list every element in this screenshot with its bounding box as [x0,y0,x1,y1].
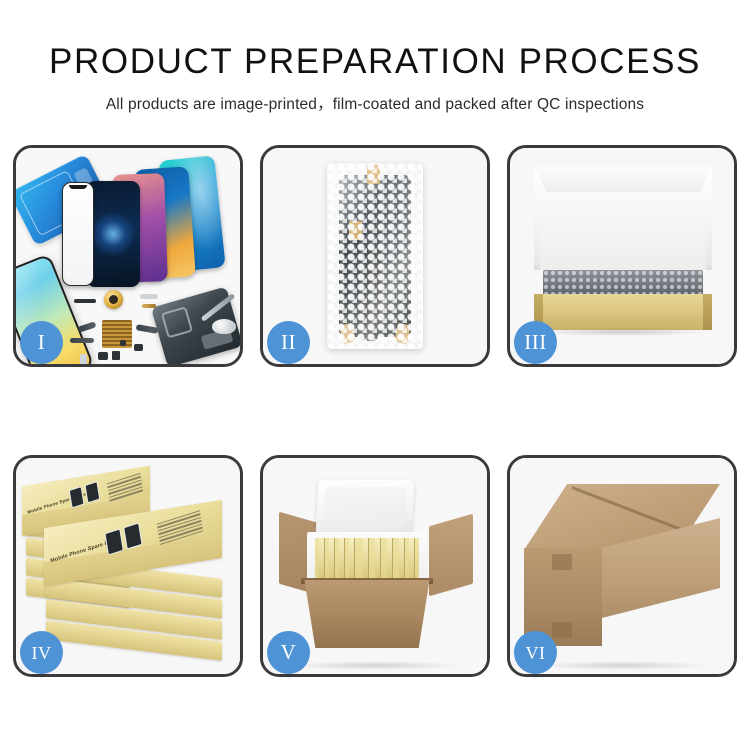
process-step-grid: I II [13,145,737,677]
plastic-sheen [327,163,423,349]
process-step-panel-1: I [13,145,243,367]
carton-tape-icon [552,622,572,638]
process-step-panel-3: III [507,145,737,367]
product-thumbnail-icon [84,481,100,503]
spare-part-icon [74,299,96,303]
spare-part-icon [80,354,87,364]
bubble-wrap-bag-icon [327,163,423,349]
speaker-coil-icon [104,290,123,309]
process-step-panel-4: Mobile Phone Spare Parts Mobile Phone Sp… [13,455,243,677]
spare-part-icon [134,344,143,351]
foam-lid-icon [534,166,712,270]
chip-grid-icon [102,320,132,348]
bubble-wrapped-contents-icon [543,270,703,297]
drop-shadow [290,661,460,670]
product-thumbnail-icon [69,486,85,508]
flex-cable-icon [136,324,159,334]
flex-cable-icon [70,338,94,343]
spare-part-icon [120,340,126,346]
yellow-boxes-inside-icon [315,538,419,578]
spare-part-icon [140,294,158,299]
step-badge-5: V [267,631,310,674]
process-step-panel-6: VI [507,455,737,677]
step-badge-6: VI [514,631,557,674]
drop-shadow [537,661,707,670]
process-step-panel-2: II [260,145,490,367]
phone-dark-icon [86,181,140,287]
page-title: PRODUCT PREPARATION PROCESS [0,44,750,79]
page-subtitle: All products are image-printed，film-coat… [0,92,750,114]
drop-shadow [538,328,708,336]
page-header: PRODUCT PREPARATION PROCESS All products… [0,0,750,114]
step-badge-3: III [514,321,557,364]
step-badge-4: IV [20,631,63,674]
phone-notch-icon [69,185,87,189]
process-step-panel-5: V [260,455,490,677]
spare-part-icon [112,351,120,360]
carton-tape-icon [552,554,572,570]
glass-screen-icon [62,182,94,286]
spare-part-icon [98,352,108,360]
product-thumbnail-icon [104,528,123,555]
flex-cable-icon [78,321,97,332]
product-preparation-process-page: PRODUCT PREPARATION PROCESS All products… [0,0,750,750]
kraft-box-front-icon [534,294,712,330]
step-badge-2: II [267,321,310,364]
carton-flap-right-icon [429,514,473,597]
tool-tip-icon [212,319,236,334]
step-badge-1: I [20,321,63,364]
styrofoam-lid-icon [316,480,415,536]
carton-body-icon [299,580,435,648]
